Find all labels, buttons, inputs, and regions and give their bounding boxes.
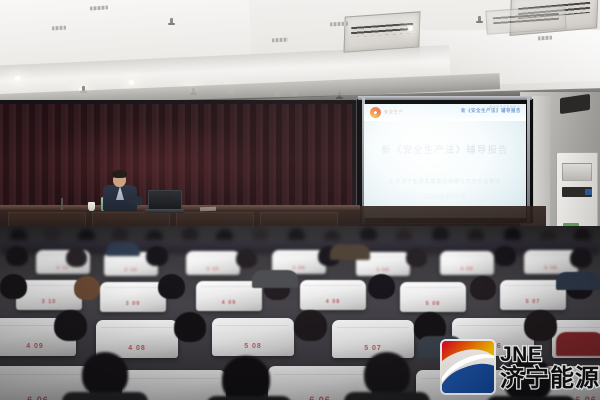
seat: 5 08: [400, 282, 466, 312]
attendee-shoulders: [106, 242, 140, 256]
sprinkler-icon: [170, 18, 173, 24]
attendee-head: [364, 352, 410, 396]
attendee-shoulders: [556, 272, 600, 290]
attendee-head: [0, 274, 27, 299]
ceiling-vent-icon: [272, 38, 288, 43]
attendee-head: [66, 248, 87, 267]
paper-cup: [88, 202, 95, 211]
speaker-hair: [112, 170, 127, 178]
downlight-icon: [12, 76, 23, 81]
attendee-head: [54, 310, 87, 341]
attendee-head: [158, 274, 185, 299]
attendee-head: [82, 352, 128, 396]
attendee-shoulders: [486, 396, 576, 400]
attendee-head: [294, 310, 327, 341]
downlight-icon: [126, 80, 137, 85]
attendee-head: [174, 312, 206, 342]
seat: 5 07: [332, 320, 414, 358]
brand-chinese-name: 济宁能源: [500, 367, 600, 391]
seat: 4 08: [440, 251, 494, 275]
attendee-head: [6, 246, 28, 266]
downlight-icon: [406, 26, 415, 31]
seat: 4 08: [300, 280, 366, 310]
attendee-shoulders: [252, 270, 298, 288]
attendee-head: [470, 276, 496, 300]
ac-vent-icon: [562, 163, 592, 181]
paper-stack: [200, 207, 216, 212]
attendee-shoulders: [206, 396, 292, 400]
brand-latin-name: JNE: [500, 344, 600, 365]
attendee-head: [252, 226, 268, 241]
attendee-head: [222, 356, 270, 400]
attendee-head: [368, 274, 395, 299]
seat: 3 09: [100, 282, 166, 312]
slide-subtitle-date: 二〇一五年十二月: [364, 194, 526, 200]
projector-hotspot: [364, 104, 477, 184]
sprinkler-icon: [478, 16, 481, 22]
laptop-base: [145, 209, 184, 213]
conference-hall-photograph: 安全生产 安全生产月专题学习 新《安全生产法》辅导报告 新《安全生产法》辅导报告…: [0, 0, 600, 400]
attendee-head: [406, 248, 427, 267]
microphone-icon: [61, 198, 63, 210]
seat: 3 10: [186, 251, 240, 275]
jne-logo-mark-icon: [442, 341, 494, 393]
seat: 5 08: [212, 318, 294, 356]
attendee-head: [524, 310, 557, 341]
logo-swoosh-icon: [442, 344, 494, 393]
projection-screen-arm-right: [527, 96, 530, 224]
watermark-logo: JNE 济宁能源: [442, 341, 600, 393]
attendee-shoulders: [330, 244, 370, 260]
projection-screen-top-bar: [358, 96, 532, 100]
attendee-shoulders: [344, 392, 430, 400]
ceiling-ac-cassette-icon: [343, 11, 420, 52]
projection-screen: 安全生产 安全生产月专题学习 新《安全生产法》辅导报告 新《安全生产法》辅导报告…: [364, 104, 526, 218]
attendee-head: [236, 249, 257, 268]
attendee-shoulders: [62, 392, 148, 400]
attendee-head: [44, 226, 60, 241]
ac-brand-label: [585, 189, 592, 195]
attendee-head: [494, 246, 516, 266]
watermark-text-block: JNE 济宁能源: [500, 344, 600, 391]
attendee-head: [146, 246, 168, 266]
attendee-head: [570, 248, 592, 268]
attendee-head: [74, 276, 100, 300]
